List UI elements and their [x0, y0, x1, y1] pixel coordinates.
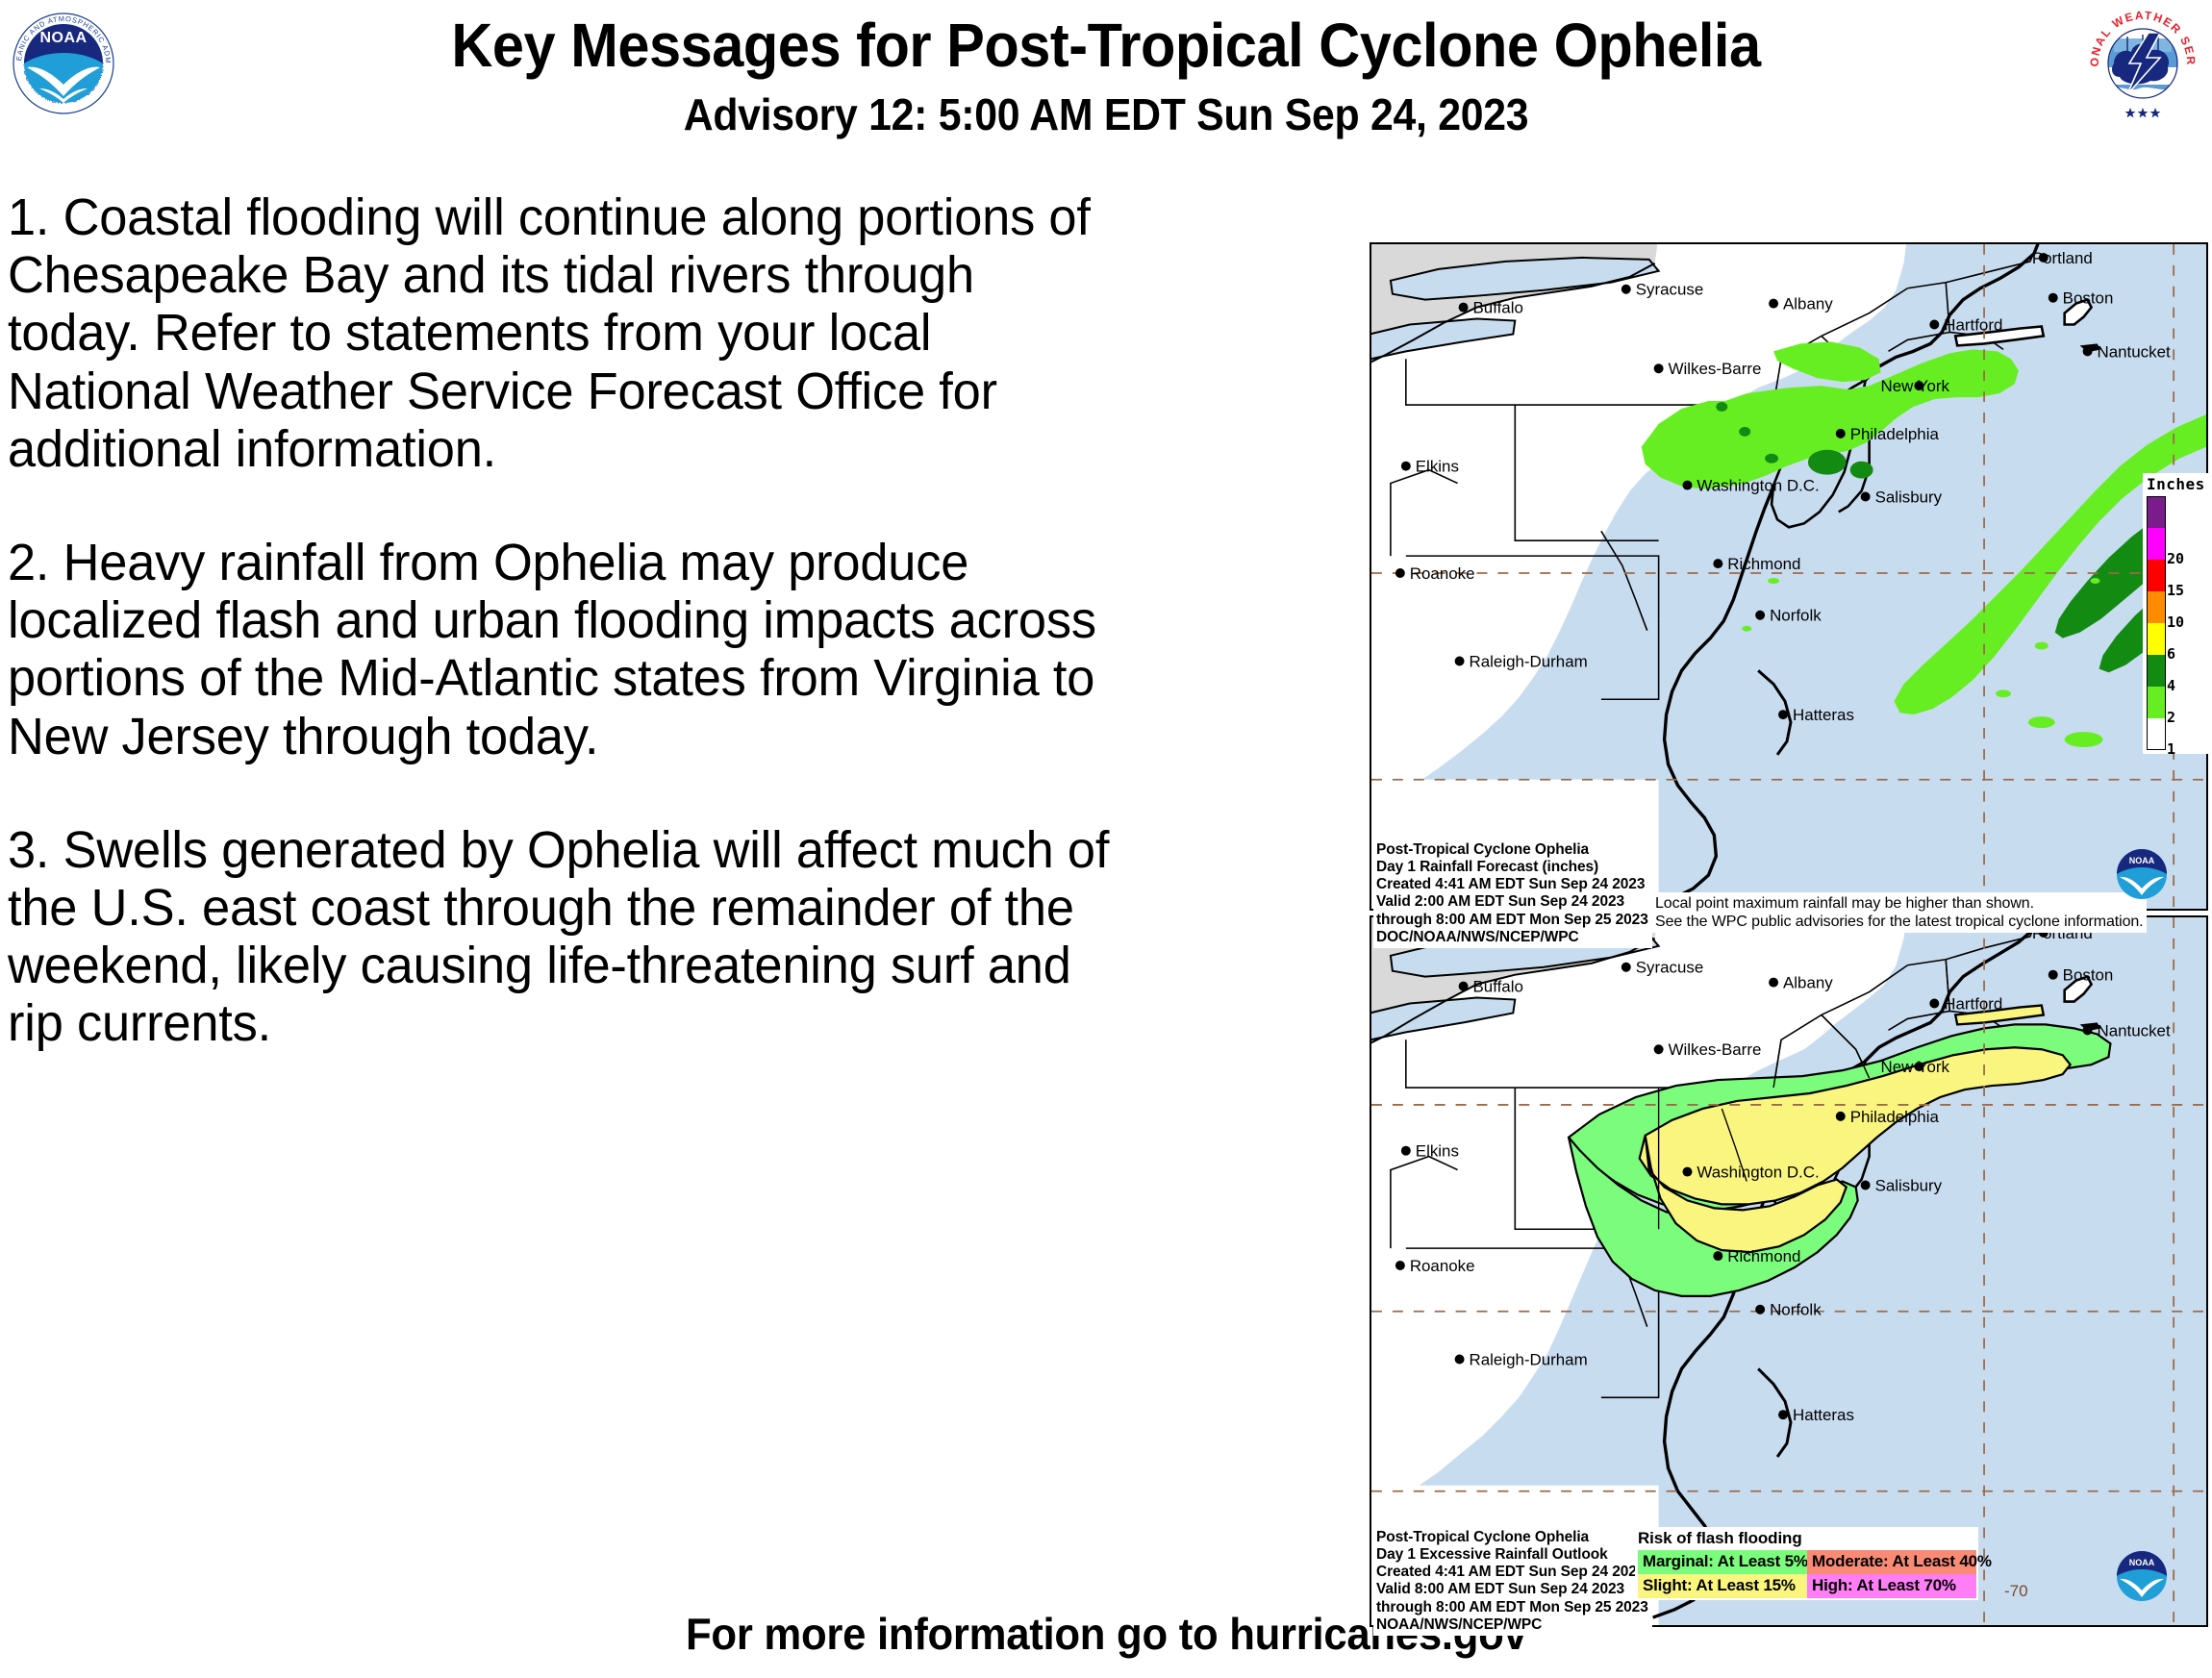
risk-marginal: Marginal: At Least 5%: [1638, 1550, 1807, 1574]
svg-text:Salisbury: Salisbury: [1875, 488, 1943, 506]
svg-text:Philadelphia: Philadelphia: [1850, 1108, 1940, 1126]
flash-flood-risk-legend: Risk of flash flooding Marginal: At Leas…: [1635, 1527, 1978, 1600]
svg-text:Raleigh-Durham: Raleigh-Durham: [1470, 652, 1588, 670]
svg-text:Boston: Boston: [2063, 289, 2114, 308]
rainfall-map-caption: Post-Tropical Cyclone Ophelia Day 1 Rain…: [1373, 839, 1652, 948]
svg-text:Roanoke: Roanoke: [1410, 564, 1475, 583]
svg-text:NOAA: NOAA: [2129, 1558, 2155, 1567]
risk-high: High: At Least 70%: [1807, 1574, 1976, 1598]
svg-text:New York: New York: [1881, 1058, 1950, 1076]
svg-text:Elkins: Elkins: [1416, 458, 1459, 476]
colorbar-band: 20: [2147, 528, 2206, 560]
svg-text:Richmond: Richmond: [1727, 555, 1800, 573]
svg-text:Wilkes-Barre: Wilkes-Barre: [1669, 1040, 1762, 1059]
page-title: Key Messages for Post-Tropical Cyclone O…: [203, 10, 2010, 83]
svg-text:Albany: Albany: [1783, 974, 1833, 992]
colorbar-band: 15: [2147, 560, 2206, 591]
svg-text:Washington D.C.: Washington D.C.: [1697, 477, 1819, 495]
svg-text:Hartford: Hartford: [1944, 315, 2002, 334]
svg-text:Buffalo: Buffalo: [1473, 978, 1523, 996]
page-footer: For more information go to hurricanes.go…: [0, 1608, 2212, 1660]
colorbar-band: 10: [2147, 591, 2206, 623]
colorbar-band: 6: [2147, 623, 2206, 655]
svg-text:Wilkes-Barre: Wilkes-Barre: [1669, 360, 1762, 378]
rainfall-map-disclaimer: Local point maximum rainfall may be high…: [1652, 892, 2147, 933]
svg-text:Boston: Boston: [2063, 966, 2114, 985]
colorbar-band-label: 1: [2167, 742, 2175, 757]
svg-text:Philadelphia: Philadelphia: [1850, 425, 1940, 443]
colorbar-swatch: [2147, 591, 2166, 623]
risk-legend-row: Slight: At Least 15% High: At Least 70%: [1638, 1574, 1976, 1598]
risk-legend-row: Marginal: At Least 5% Moderate: At Least…: [1638, 1550, 1976, 1574]
outlook-map-caption: Post-Tropical Cyclone Ophelia Day 1 Exce…: [1373, 1527, 1652, 1636]
svg-text:NOAA: NOAA: [2129, 856, 2155, 865]
key-messages-list: 1. Coastal flooding will continue along …: [8, 188, 1152, 1109]
svg-text:Hatteras: Hatteras: [1793, 1406, 1854, 1424]
excessive-rainfall-outlook-map: Buffalo Syracuse Albany Hartford Portlan…: [1370, 915, 2208, 1627]
colorbar-swatch: [2147, 687, 2166, 718]
svg-text:Roanoke: Roanoke: [1410, 1257, 1475, 1275]
svg-text:Raleigh-Durham: Raleigh-Durham: [1470, 1350, 1588, 1368]
rainfall-forecast-map: Buffalo Syracuse Albany Hartford Portlan…: [1370, 242, 2208, 911]
colorbar-swatch: [2147, 623, 2166, 655]
colorbar-swatch: [2147, 496, 2166, 528]
colorbar-title: Inches: [2147, 475, 2206, 493]
risk-legend-title: Risk of flash flooding: [1638, 1529, 1976, 1548]
svg-text:Washington D.C.: Washington D.C.: [1697, 1164, 1819, 1182]
colorbar-bands: 2015106421: [2147, 496, 2206, 750]
key-message-2: 2. Heavy rainfall from Ophelia may produ…: [8, 534, 1118, 765]
svg-text:NOAA: NOAA: [39, 30, 87, 46]
svg-text:Nantucket: Nantucket: [2098, 1021, 2171, 1039]
svg-text:New York: New York: [1881, 377, 1950, 395]
longitude-tick-label: -70: [2004, 1582, 2028, 1601]
colorbar-swatch: [2147, 718, 2166, 750]
noaa-badge-icon: NOAA: [2112, 1546, 2172, 1606]
svg-text:Norfolk: Norfolk: [1770, 607, 1822, 625]
nws-logo: NATIONAL WEATHER SERVICE: [2085, 4, 2200, 119]
page-header: NATIONAL OCEANIC AND ATMOSPHERIC ADMINIS…: [0, 0, 2212, 168]
key-message-3: 3. Swells generated by Ophelia will affe…: [8, 821, 1118, 1053]
svg-text:Hartford: Hartford: [1944, 994, 2002, 1013]
svg-text:Syracuse: Syracuse: [1636, 959, 1704, 977]
svg-text:Elkins: Elkins: [1416, 1142, 1459, 1161]
svg-text:Richmond: Richmond: [1727, 1247, 1800, 1265]
svg-text:Syracuse: Syracuse: [1636, 281, 1704, 299]
colorbar-band: 4: [2147, 655, 2206, 687]
svg-text:Portland: Portland: [2032, 249, 2093, 267]
colorbar-swatch: [2147, 560, 2166, 591]
svg-text:Hatteras: Hatteras: [1793, 706, 1854, 724]
colorbar-swatch: [2147, 655, 2166, 687]
noaa-logo: NATIONAL OCEANIC AND ATMOSPHERIC ADMINIS…: [8, 8, 119, 119]
risk-moderate: Moderate: At Least 40%: [1807, 1550, 1976, 1574]
colorbar-band: [2147, 496, 2206, 528]
colorbar-band: 1: [2147, 718, 2206, 750]
risk-slight: Slight: At Least 15%: [1638, 1574, 1807, 1598]
svg-text:Norfolk: Norfolk: [1770, 1301, 1822, 1319]
key-message-1: 1. Coastal flooding will continue along …: [8, 188, 1118, 478]
colorbar-swatch: [2147, 528, 2166, 560]
svg-text:Salisbury: Salisbury: [1875, 1176, 1943, 1194]
noaa-badge-icon: NOAA: [2112, 844, 2172, 904]
advisory-subtitle: Advisory 12: 5:00 AM EDT Sun Sep 24, 202…: [203, 88, 2010, 140]
svg-text:Buffalo: Buffalo: [1473, 299, 1523, 317]
svg-text:Nantucket: Nantucket: [2098, 342, 2171, 361]
rainfall-colorbar: Inches 2015106421: [2143, 473, 2208, 754]
header-text-block: Key Messages for Post-Tropical Cyclone O…: [135, 10, 2077, 140]
colorbar-band: 2: [2147, 687, 2206, 718]
svg-text:Albany: Albany: [1783, 295, 1833, 313]
